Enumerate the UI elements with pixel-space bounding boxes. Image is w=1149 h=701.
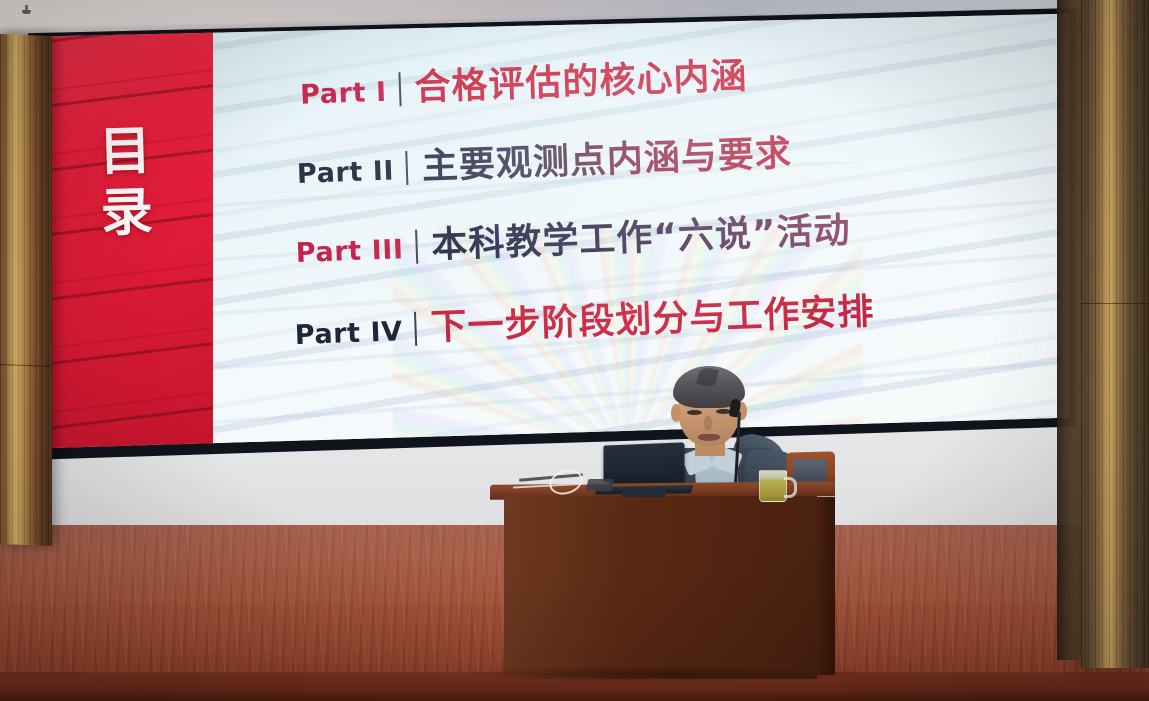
toc-item-2-title: 主要观测点内涵与要求: [421, 124, 793, 189]
toc-item-1: Part I 合格评估的核心内涵: [299, 47, 748, 115]
slide-sidebar: 目 录: [35, 12, 213, 452]
toc-item-4-part: Part IV: [294, 316, 403, 351]
sidebar-char-1: 目: [85, 121, 167, 185]
lecture-hall-photo: 目 录 Part I 合格评估的核心内涵 Part II: [0, 0, 1149, 701]
eye-left: [687, 410, 702, 415]
toc-item-4-divider: [414, 312, 417, 346]
cable-adapter: [586, 479, 615, 491]
toc-item-1-divider: [398, 72, 401, 106]
toc-item-1-part: Part I: [300, 77, 388, 111]
led-screen: 目 录 Part I 合格评估的核心内涵 Part II: [28, 8, 1076, 468]
podium-cables: [513, 470, 623, 494]
right-wall-inner-shadow: [1057, 0, 1081, 660]
podium-front-shading: [504, 496, 817, 679]
toc-item-2-part: Part II: [296, 155, 394, 189]
toc-item-2-divider: [405, 151, 408, 185]
mug-handle: [784, 477, 797, 498]
mouth: [698, 434, 720, 441]
podium: [490, 483, 835, 679]
slide-sidebar-title: 目 录: [85, 121, 168, 246]
laptop-trackpad: [621, 490, 667, 497]
toc-item-1-title: 合格评估的核心内涵: [413, 47, 748, 111]
toc-item-3-divider: [415, 230, 418, 264]
podium-shadow: [470, 666, 860, 682]
toc-item-4-title: 下一步阶段划分与工作安排: [430, 282, 876, 350]
podium-side-panel: [817, 497, 835, 675]
toc-item-3: Part III 本科教学工作“六说”活动: [295, 201, 852, 273]
toc-item-3-title: 本科教学工作“六说”活动: [430, 201, 851, 268]
right-wall-grain: [1081, 0, 1149, 668]
nose: [704, 416, 712, 431]
toc-item-4: Part IV 下一步阶段划分与工作安排: [294, 282, 876, 355]
toc-item-3-part: Part III: [295, 234, 404, 269]
sidebar-char-2: 录: [87, 182, 169, 246]
screen-surface: 目 录 Part I 合格评估的核心内涵 Part II: [35, 12, 1069, 452]
right-wall-seam: [1081, 303, 1149, 304]
ear-left: [671, 404, 681, 422]
right-wooden-slat-wall: [1081, 0, 1149, 668]
chair-backrest: [793, 459, 827, 483]
left-wooden-column: [0, 34, 52, 546]
toc-item-2: Part II 主要观测点内涵与要求: [296, 124, 793, 194]
tea-mug: [759, 470, 787, 502]
left-column-grain: [0, 34, 52, 546]
